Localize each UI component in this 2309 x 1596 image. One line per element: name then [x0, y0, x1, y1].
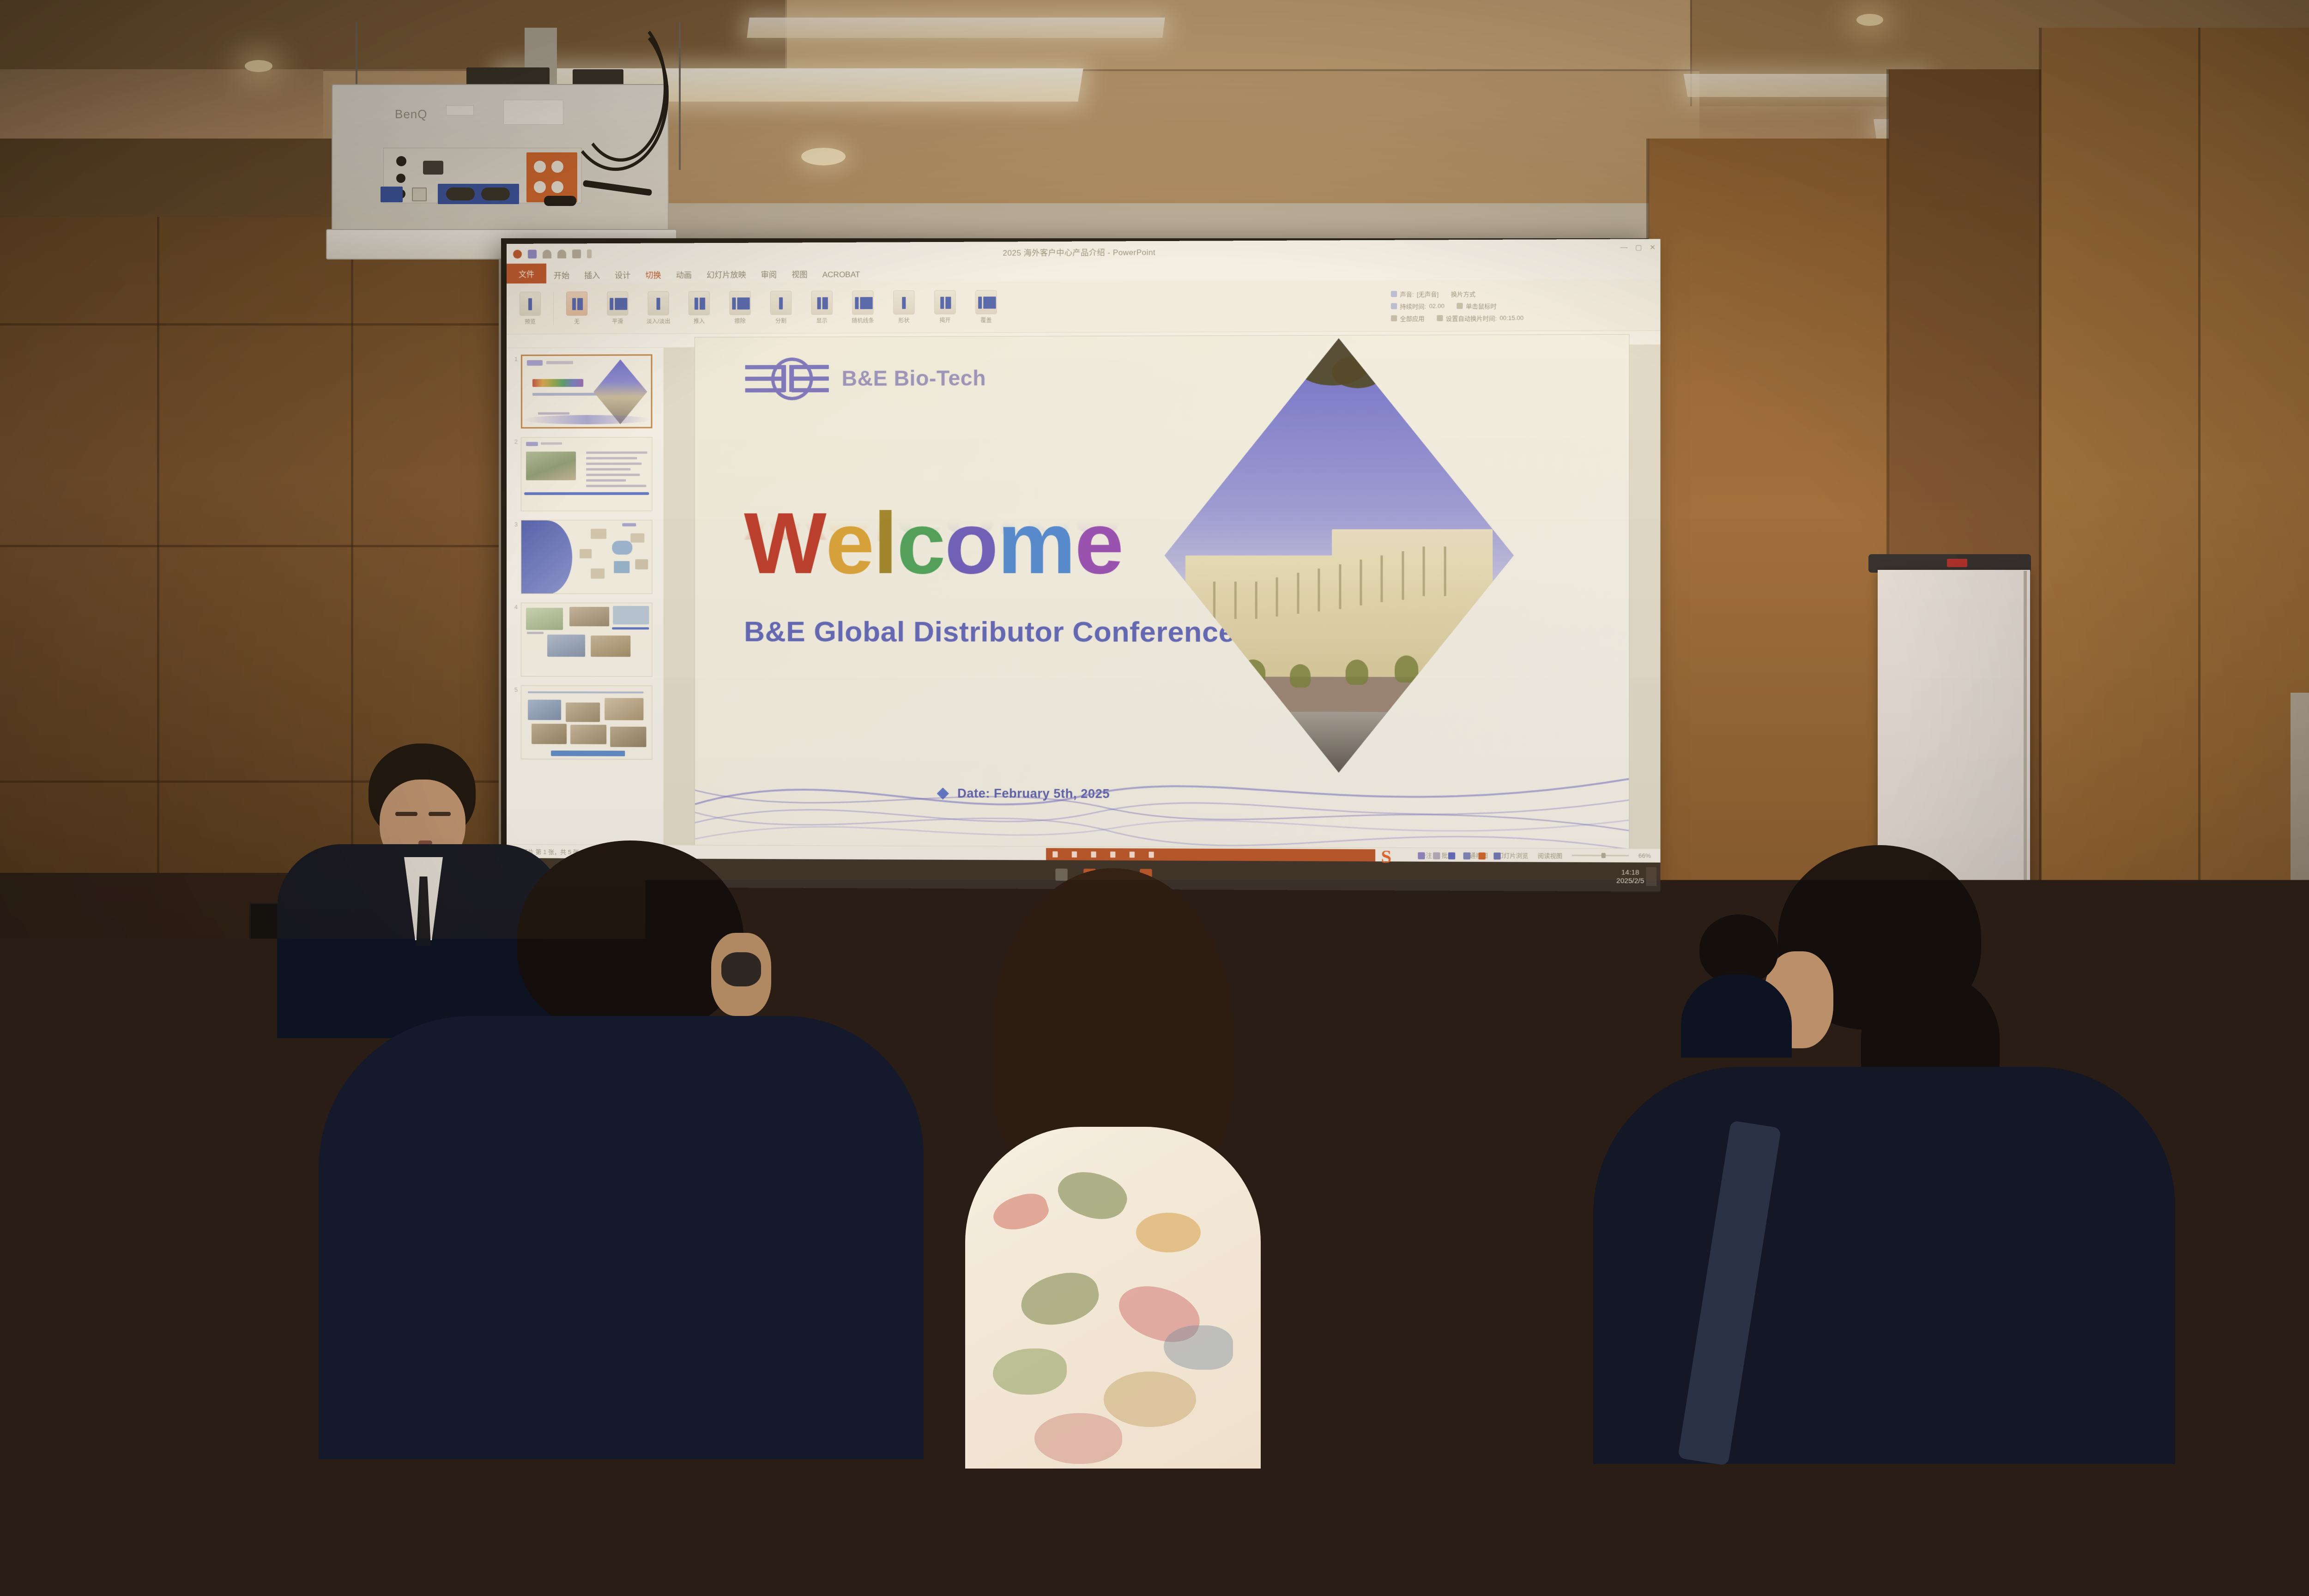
- chair[interactable]: [115, 1014, 249, 1104]
- sogou-input-toolbar[interactable]: [1046, 848, 1375, 861]
- diamond-bullet-icon: [937, 787, 949, 799]
- slide-subtitle: B&E Global Distributor Conference: [744, 615, 1235, 648]
- book-icon[interactable]: [1130, 852, 1135, 858]
- sound-label: 声音:: [1400, 289, 1414, 298]
- recessed-ceiling-light: [801, 148, 846, 165]
- ribbon-timing-group[interactable]: 声音:[无声音] 换片方式 持续时间:02.00 单击鼠标时 全部应用 设置自动…: [1391, 280, 1656, 331]
- thumbnail-row[interactable]: 4: [511, 603, 659, 677]
- slide-date: Date: February 5th, 2025: [957, 786, 1110, 801]
- system-tray-icons[interactable]: [1418, 849, 1500, 862]
- ribbon-tab-1[interactable]: 开始: [546, 266, 577, 283]
- sound-value[interactable]: [无声音]: [1417, 289, 1439, 298]
- ribbon-tab-8[interactable]: 视图: [784, 265, 815, 282]
- ribbon-item-1[interactable]: 无: [557, 291, 597, 325]
- sogou-input-icon[interactable]: [1448, 852, 1455, 859]
- close-icon[interactable]: ✕: [1650, 243, 1656, 251]
- ribbon-tab-7[interactable]: 审阅: [754, 266, 784, 283]
- wps-icon[interactable]: [1433, 852, 1440, 859]
- person-back-partial: [1681, 914, 1792, 1053]
- split-icon[interactable]: [770, 291, 792, 315]
- slide-thumbnail-1[interactable]: [521, 354, 653, 429]
- slide-editing-stage: B&E Bio-Tech Welcome Welcome B&E Global …: [664, 345, 1661, 849]
- be-biotech-logo-icon: [745, 355, 828, 403]
- ribbon-tab-6[interactable]: 幻灯片放映: [699, 266, 754, 283]
- advance-after-label: 设置自动换片时间:: [1446, 313, 1497, 322]
- advance-on-click[interactable]: 单击鼠标时: [1466, 301, 1497, 310]
- chair[interactable]: [614, 1515, 937, 1596]
- slide-date-row: Date: February 5th, 2025: [937, 786, 1110, 801]
- volume-icon[interactable]: [1478, 852, 1485, 859]
- slide-thumbnail-3[interactable]: [521, 520, 653, 594]
- ribbon-item-7[interactable]: 显示: [802, 290, 842, 325]
- thumbnail-number: 2: [511, 437, 518, 445]
- ribbon-tab-5[interactable]: 动画: [669, 266, 699, 283]
- ribbon-item-caption: 覆盖: [980, 316, 991, 324]
- wipe-icon[interactable]: [729, 291, 750, 315]
- ribbon-item-2[interactable]: 平滑: [598, 291, 637, 325]
- ribbon-item-4[interactable]: 推入: [679, 291, 719, 325]
- ribbon-item-5[interactable]: 擦除: [720, 291, 760, 325]
- keyboard-icon[interactable]: [1091, 851, 1096, 857]
- recessed-ceiling-light: [1856, 14, 1883, 26]
- welcome-letter-6: e: [1075, 499, 1123, 587]
- thumbnail-number: 3: [511, 520, 518, 528]
- welcome-letter-0: W: [744, 499, 826, 586]
- view-sorter-button[interactable]: 幻灯片浏览: [1497, 851, 1528, 860]
- ribbon-tab-3[interactable]: 设计: [607, 266, 638, 283]
- headquarters-photo-diamond: [1165, 338, 1514, 773]
- projection-screen: 2025 海外客户中心产品介绍 - PowerPoint — ▢ ✕ 文件开始插…: [501, 238, 1649, 892]
- ribbon-item-caption: 平滑: [612, 317, 623, 325]
- push-icon[interactable]: [689, 291, 710, 315]
- view-reading-button[interactable]: 阅读视图: [1538, 851, 1562, 859]
- ribbon-item-8[interactable]: 随机线条: [843, 290, 883, 325]
- ribbon-item-11[interactable]: 覆盖: [966, 290, 1006, 324]
- random-bars-icon[interactable]: [852, 290, 873, 314]
- projected-desktop: 2025 海外客户中心产品介绍 - PowerPoint — ▢ ✕ 文件开始插…: [507, 239, 1660, 891]
- attendee-center-blouse: [965, 1127, 1261, 1469]
- ribbon-item-caption: 预览: [525, 318, 536, 326]
- fade-icon[interactable]: [648, 291, 669, 315]
- projector-brand-label: BenQ: [395, 107, 428, 121]
- welcome-heading: Welcome: [744, 499, 1123, 587]
- welcome-letter-5: m: [997, 499, 1075, 586]
- thumbnail-row[interactable]: 2: [511, 437, 659, 511]
- duration-value[interactable]: 02.00: [1429, 302, 1444, 309]
- welcome-letter-3: c: [897, 499, 945, 586]
- desk-middle-left: [0, 1141, 332, 1178]
- ribbon-item-caption: 淡入/淡出: [647, 317, 671, 325]
- ribbon-item-caption: 形状: [898, 316, 909, 324]
- advance-label: 换片方式: [1451, 289, 1475, 298]
- ribbon-tab-2[interactable]: 插入: [577, 266, 607, 283]
- desk-foreground: [0, 1459, 2078, 1519]
- attendee-left-glasses: [721, 952, 761, 986]
- grid-icon[interactable]: [1110, 851, 1115, 857]
- ribbon-item-caption: 无: [574, 317, 580, 325]
- ribbon-tab-4[interactable]: 切换: [638, 266, 668, 283]
- welcome-letter-4: o: [945, 499, 997, 586]
- reveal-icon[interactable]: [811, 290, 833, 314]
- attendee-left-hair: [517, 840, 743, 1034]
- window-controls[interactable]: — ▢ ✕: [1620, 243, 1656, 252]
- window-title: 2025 海外客户中心产品介绍 - PowerPoint: [507, 243, 1660, 260]
- water-glass[interactable]: [1511, 1247, 1594, 1338]
- ribbon-item-caption: 随机线条: [852, 316, 874, 324]
- food-item: [1478, 1144, 1510, 1159]
- ribbon-tab-0[interactable]: 文件: [507, 264, 546, 284]
- thumbnail-row[interactable]: 1: [511, 354, 659, 429]
- decorative-wave-graphic: [695, 707, 1628, 859]
- current-slide[interactable]: B&E Bio-Tech Welcome Welcome B&E Global …: [695, 335, 1628, 859]
- thumbnail-number: 1: [511, 355, 518, 363]
- ribbon-item-6[interactable]: 分割: [761, 291, 801, 325]
- none-transition-icon[interactable]: [566, 291, 587, 315]
- shield-icon[interactable]: [1493, 852, 1500, 859]
- uncover-icon[interactable]: [934, 290, 956, 314]
- chair[interactable]: [1367, 1524, 1690, 1596]
- advance-after-value[interactable]: 00:15.00: [1499, 314, 1523, 321]
- projector-small-sticker: [446, 105, 474, 115]
- slide-thumbnail-2[interactable]: [521, 437, 653, 511]
- person-attendee-center: [827, 868, 1399, 1469]
- ribbon-item-caption: 推入: [694, 317, 705, 325]
- food-item: [1118, 1539, 1160, 1558]
- recessed-ceiling-light: [245, 60, 272, 72]
- microphone-head: [220, 942, 234, 956]
- flipchart-brand-badge: [1947, 559, 1967, 567]
- preview-icon[interactable]: [520, 292, 541, 316]
- 文-icon[interactable]: [1072, 851, 1077, 857]
- ribbon-item-caption: 擦除: [734, 317, 745, 325]
- 中-icon[interactable]: [1052, 851, 1058, 857]
- conference-room-scene: BenQ: [0, 0, 2309, 1596]
- ribbon-tab-9[interactable]: ACROBAT: [815, 267, 868, 283]
- ceiling-strip-light: [747, 18, 1165, 38]
- company-name: B&E Bio-Tech: [842, 365, 986, 391]
- ribbon-item-9[interactable]: 形状: [884, 290, 924, 325]
- ribbon-item-caption: 显示: [816, 317, 828, 325]
- ribbon-item-3[interactable]: 淡入/淡出: [638, 291, 678, 325]
- minimize-icon[interactable]: —: [1620, 243, 1627, 252]
- restore-icon[interactable]: ▢: [1635, 243, 1642, 252]
- ribbon-item-caption: 揭开: [939, 316, 950, 324]
- slide-thumbnail-4[interactable]: [521, 603, 653, 677]
- menu-icon[interactable]: [1149, 852, 1154, 858]
- ceiling-panel: [0, 0, 785, 69]
- sogou-logo-icon[interactable]: S: [1381, 846, 1391, 868]
- person-far-left-partial: [0, 1182, 194, 1469]
- ribbon-item-10[interactable]: 揭开: [925, 290, 965, 324]
- morph-icon[interactable]: [607, 291, 628, 315]
- apply-to-all-button[interactable]: 全部应用: [1400, 314, 1424, 322]
- ribbon-item-0[interactable]: 预览: [510, 292, 550, 326]
- thumbnail-number: 4: [511, 603, 518, 611]
- projector-barcode-sticker: [503, 100, 563, 125]
- network-icon[interactable]: [1463, 852, 1470, 859]
- cover-icon[interactable]: [975, 290, 997, 314]
- wall-panel-far-right: [2291, 693, 2309, 988]
- thumbnail-row[interactable]: 3: [511, 520, 659, 594]
- up-chevron-icon[interactable]: [1418, 852, 1425, 859]
- thumbnail-number: 5: [511, 685, 518, 693]
- welcome-letter-2: l: [873, 499, 897, 586]
- welcome-letter-1: e: [826, 499, 873, 586]
- shape-icon[interactable]: [893, 290, 914, 314]
- duration-label: 持续时间:: [1400, 302, 1426, 310]
- ribbon-item-caption: 分割: [775, 317, 786, 325]
- person-attendee-right: [1593, 845, 2175, 1455]
- chair[interactable]: [14, 1510, 314, 1596]
- attendee-right-top: [1593, 1067, 2175, 1464]
